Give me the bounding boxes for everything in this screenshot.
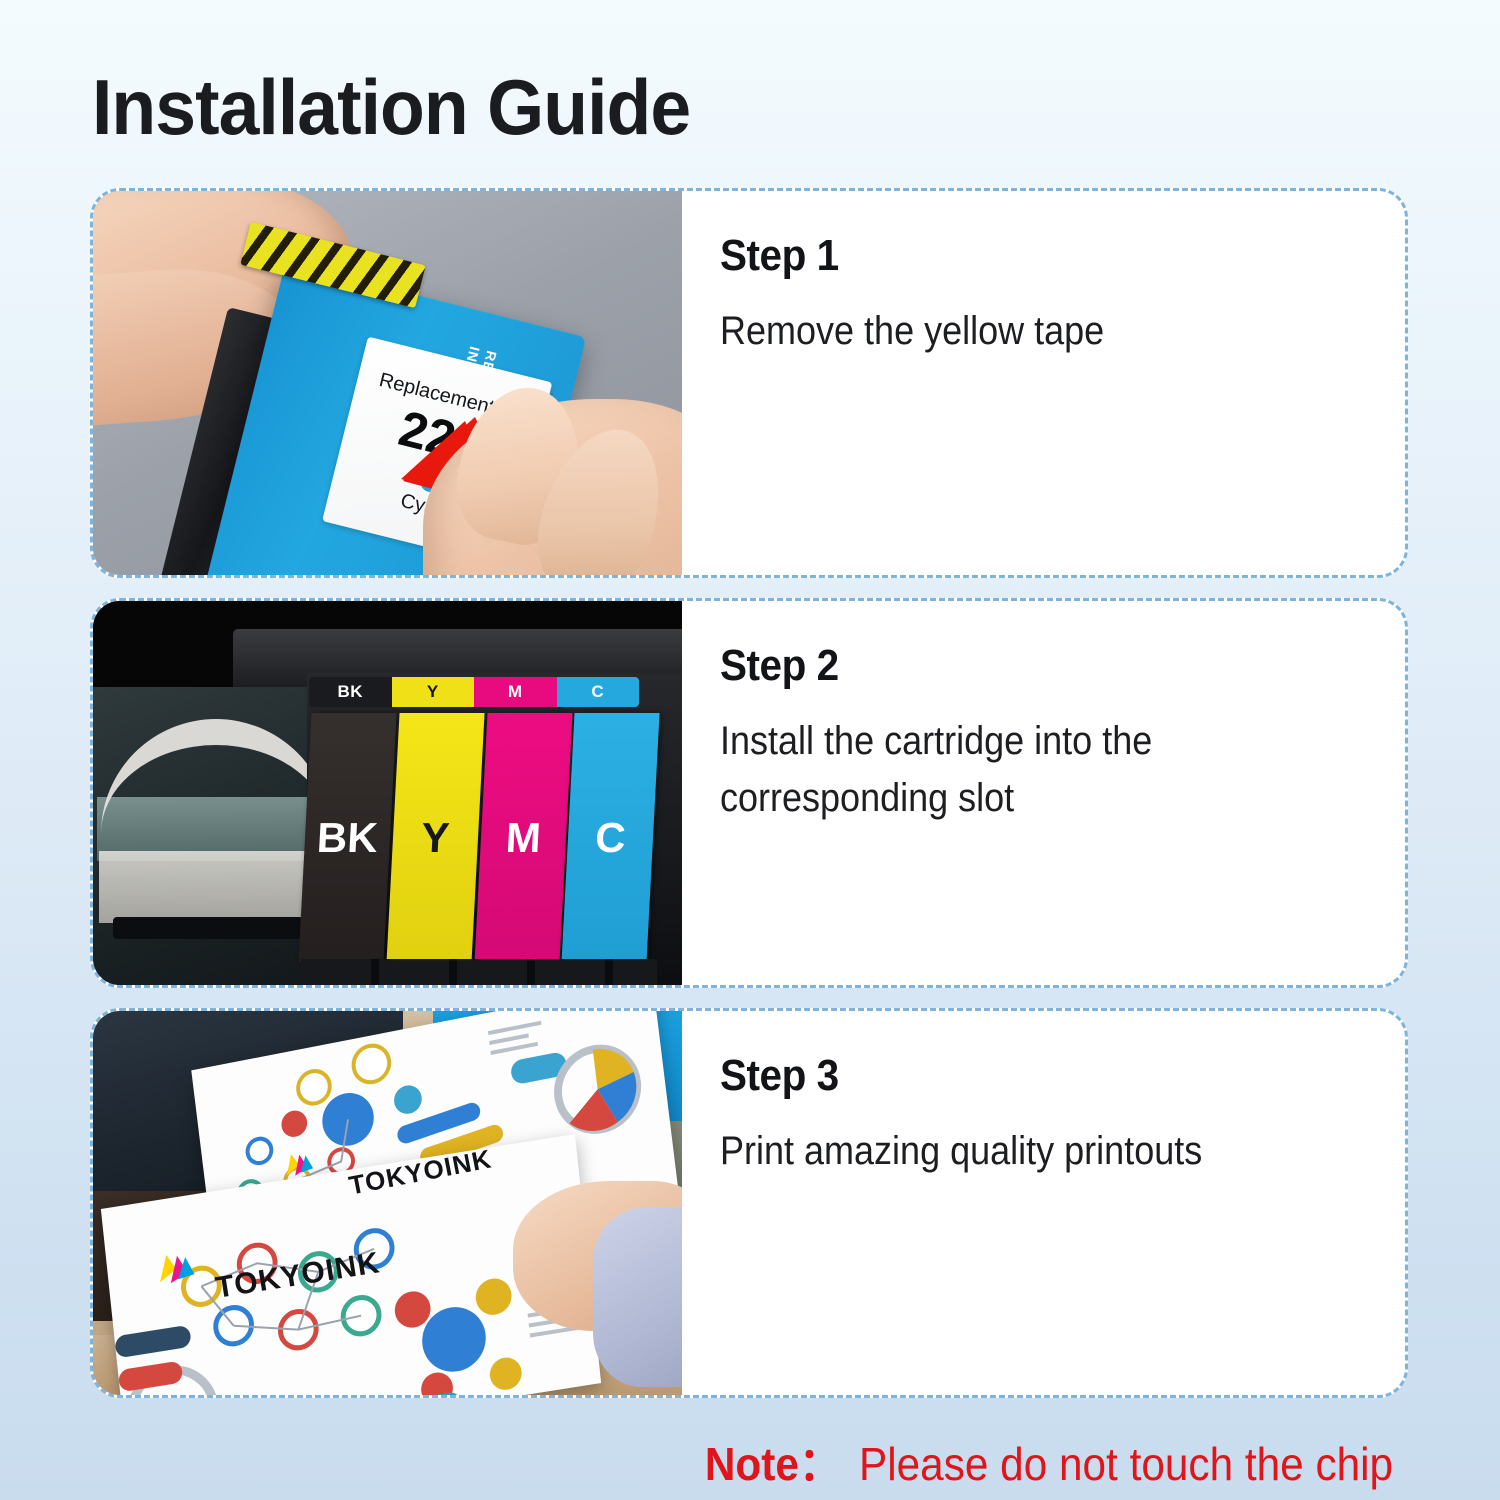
slot-tab-m: M	[474, 677, 557, 707]
step-2-photo: BK Y M C BK Y M C	[93, 601, 682, 985]
note-row: Note： Please do not touch the chip	[0, 1428, 1440, 1494]
step-3-description: Print amazing quality printouts	[720, 1123, 1337, 1180]
step-3-photo: TOKYOINK TOKYOINK	[93, 1011, 682, 1395]
slot-tab-y: Y	[392, 677, 475, 707]
cartridge-bk: BK	[298, 713, 396, 963]
printer-rail	[113, 917, 303, 939]
step-2-description: Install the cartridge into the correspon…	[720, 713, 1337, 827]
slot-tab-bk: BK	[309, 677, 392, 707]
step-card-1: REMANUFACTURED INK CARTRIDGE Replacement…	[90, 188, 1408, 578]
note-label: Note：	[705, 1428, 841, 1494]
printer-white-panel	[99, 851, 315, 923]
cartridge-m: M	[474, 713, 572, 963]
cartridge-base	[301, 959, 657, 985]
sleeve	[593, 1207, 682, 1387]
slot-label-strip: BK Y M C	[309, 677, 639, 707]
slot-tab-c: C	[557, 677, 640, 707]
step-3-heading: Step 3	[720, 1051, 1350, 1101]
step-1-text: Step 1 Remove the yellow tape	[682, 191, 1405, 575]
step-1-description: Remove the yellow tape	[720, 303, 1337, 360]
step-2-heading: Step 2	[720, 641, 1350, 691]
page-title: Installation Guide	[92, 68, 690, 146]
step-card-2: BK Y M C BK Y M C Step 2 Install the car…	[90, 598, 1408, 988]
tokyoink-logo-icon	[153, 1248, 198, 1288]
step-card-3: TOKYOINK TOKYOINK Step 3 Print amazing q…	[90, 1008, 1408, 1398]
step-1-heading: Step 1	[720, 231, 1350, 281]
step-2-text: Step 2 Install the cartridge into the co…	[682, 601, 1405, 985]
step-1-photo: REMANUFACTURED INK CARTRIDGE Replacement…	[93, 191, 682, 575]
cartridge-y: Y	[386, 713, 484, 963]
cartridge-c: C	[562, 713, 660, 963]
step-3-text: Step 3 Print amazing quality printouts	[682, 1011, 1405, 1395]
note-text: Please do not touch the chip	[859, 1437, 1393, 1491]
installed-cartridges: BK Y M C	[305, 713, 653, 963]
